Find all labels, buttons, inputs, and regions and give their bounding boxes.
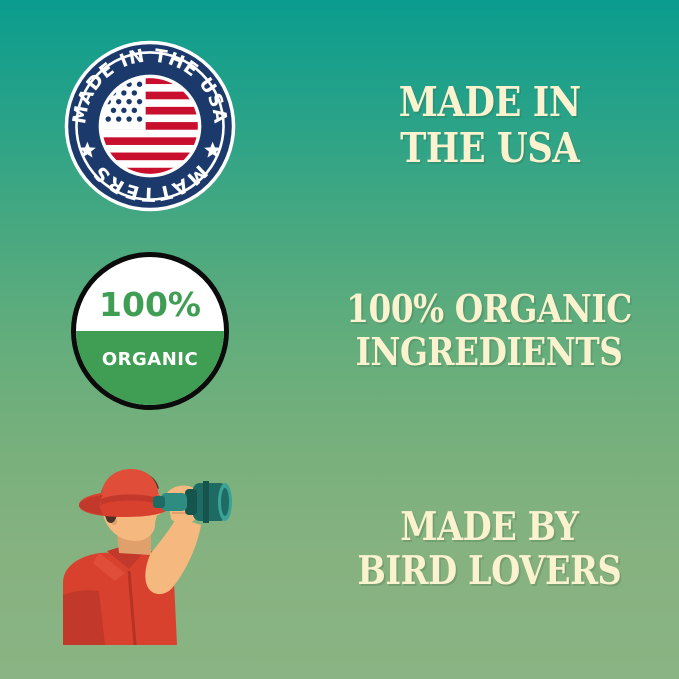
organic-percent-label: 100% <box>76 285 224 324</box>
feature-label-line: INGREDIENTS <box>347 331 633 374</box>
feature-label-line: MADE BY <box>358 506 622 550</box>
feature-row-made-by-bird-lovers: MADE BY BIRD LOVERS <box>0 455 679 645</box>
text-cell-organic: 100% ORGANIC INGREDIENTS <box>300 288 679 373</box>
text-cell-made-by-bird-lovers: MADE BY BIRD LOVERS <box>300 506 679 593</box>
feature-label-line: 100% ORGANIC <box>347 288 633 331</box>
feature-label-line: BIRD LOVERS <box>358 550 622 594</box>
icon-cell-organic: 100% ORGANIC <box>0 252 300 410</box>
feature-label-organic-ingredients: 100% ORGANIC INGREDIENTS <box>347 288 633 373</box>
organic-circle-badge-icon: 100% ORGANIC <box>71 252 229 410</box>
feature-label-made-by-bird-lovers: MADE BY BIRD LOVERS <box>358 506 622 593</box>
birdwatcher-with-binoculars-icon <box>55 455 245 645</box>
organic-word-label: ORGANIC <box>76 349 224 370</box>
feature-label-line: THE USA <box>399 126 581 172</box>
text-cell-made-in-usa: MADE IN THE USA <box>300 80 679 172</box>
feature-row-organic-ingredients: 100% ORGANIC 100% ORGANIC INGREDIENTS <box>0 250 679 412</box>
feature-row-made-in-usa: MADE IN THE USA MATTERS MADE IN THE USA <box>0 33 679 218</box>
icon-cell-made-in-usa: MADE IN THE USA MATTERS <box>0 39 300 213</box>
feature-label-made-in-usa: MADE IN THE USA <box>399 80 581 172</box>
icon-cell-birdwatcher <box>0 455 300 645</box>
feature-label-line: MADE IN <box>399 80 581 126</box>
usa-seal-badge-icon: MADE IN THE USA MATTERS <box>63 39 237 213</box>
